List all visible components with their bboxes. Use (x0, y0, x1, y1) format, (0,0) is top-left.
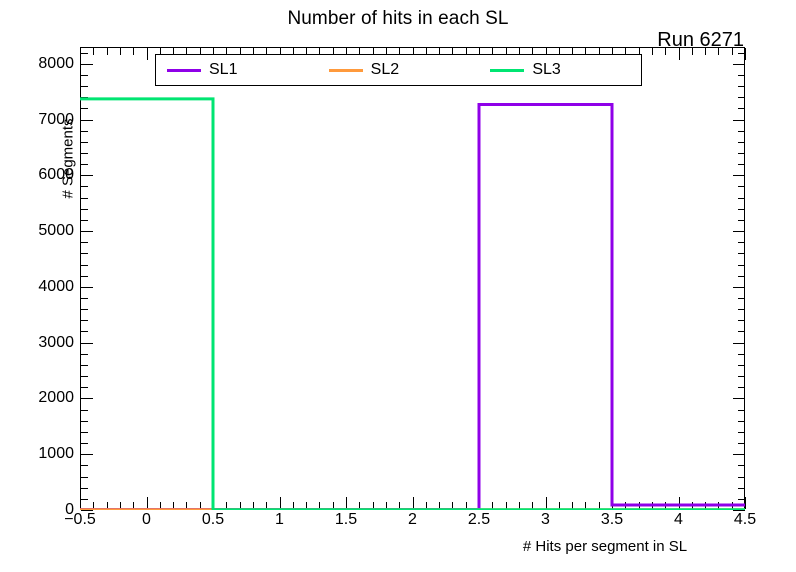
x-tick-label: 0 (142, 511, 151, 529)
legend-swatch-sl2 (329, 69, 363, 72)
y-tick-label: 3000 (38, 334, 74, 352)
y-tick-label: 8000 (38, 55, 74, 73)
y-tick-label: 7000 (38, 111, 74, 129)
page-title: Number of hits in each SL (0, 8, 796, 30)
y-tick-label: 6000 (38, 166, 74, 184)
x-tick-label: 2 (408, 511, 417, 529)
x-tick-label: −0.5 (64, 511, 96, 529)
legend: SL1 SL2 SL3 (155, 54, 642, 86)
legend-label-sl2: SL2 (371, 61, 399, 79)
plot-canvas: Number of hits in each SL Run 6271 # Seg… (0, 0, 796, 572)
y-tick-label: 1000 (38, 445, 74, 463)
x-tick-label: 0.5 (202, 511, 224, 529)
xtick-major (745, 497, 746, 509)
x-tick-label: 1.5 (335, 511, 357, 529)
xtick-major-t (745, 48, 746, 60)
y-axis-title: # Segments (60, 79, 77, 239)
legend-swatch-sl3 (490, 69, 524, 72)
legend-entry-sl2[interactable]: SL2 (318, 61, 480, 79)
legend-swatch-sl1 (167, 69, 201, 72)
x-tick-label: 1 (275, 511, 284, 529)
x-axis-title: # Hits per segment in SL (445, 538, 765, 555)
y-tick-label: 2000 (38, 389, 74, 407)
histogram-line-sl3 (80, 99, 745, 510)
legend-label-sl1: SL1 (209, 61, 237, 79)
histogram-line-sl1 (80, 104, 745, 509)
histogram-series (80, 99, 745, 510)
legend-entry-sl3[interactable]: SL3 (479, 61, 641, 79)
x-tick-label: 3 (541, 511, 550, 529)
y-tick-label: 5000 (38, 222, 74, 240)
x-tick-label: 4 (674, 511, 683, 529)
x-tick-label: 4.5 (734, 511, 756, 529)
histogram-area (80, 47, 745, 510)
legend-entry-sl1[interactable]: SL1 (156, 61, 318, 79)
x-tick-label: 2.5 (468, 511, 490, 529)
y-tick-label: 4000 (38, 278, 74, 296)
legend-label-sl3: SL3 (532, 61, 560, 79)
x-tick-label: 3.5 (601, 511, 623, 529)
